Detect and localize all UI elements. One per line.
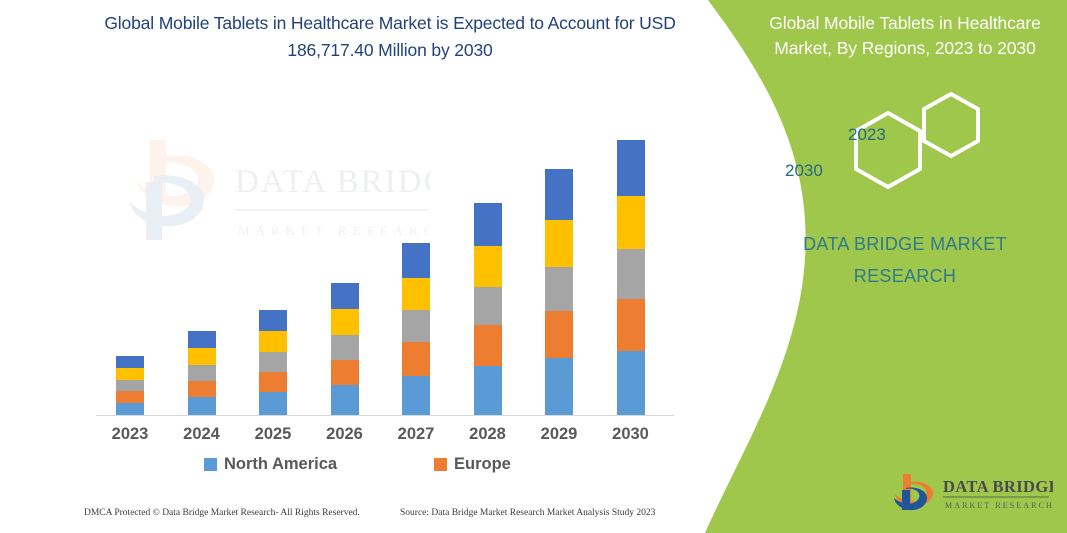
bar-segment [116,368,144,380]
bar-segment [331,309,359,335]
bar-2025[interactable] [259,310,287,416]
bar-segment [188,365,216,381]
bar-2030[interactable] [617,140,645,416]
bar-segment [259,331,287,352]
footer-copyright: DMCA Protected © Data Bridge Market Rese… [84,508,360,518]
bar-segment [545,169,573,219]
bar-segment [116,356,144,368]
bar-segment [617,196,645,249]
x-tick-2023: 2023 [100,425,160,444]
legend-label-europe: Europe [454,455,511,474]
bar-segment [331,360,359,386]
bar-segment [402,278,430,311]
hex-label-2023: 2023 [848,125,886,145]
bar-segment [116,391,144,403]
bar-2029[interactable] [545,169,573,416]
bar-2028[interactable] [474,203,502,416]
legend-swatch-europe [434,458,447,471]
logo-name-bottom: MARKET RESEARCH [945,501,1053,510]
bar-segment [545,220,573,267]
panel-brand-line2: RESEARCH [755,260,1055,292]
bar-segment [188,397,216,416]
hexagon-group [832,92,1022,207]
bar-segment [188,331,216,348]
bar-2027[interactable] [402,243,430,416]
bar-segment [617,351,645,416]
data-bridge-logo: DATA BRIDGE MARKET RESEARCH [893,470,1053,518]
bar-2023[interactable] [116,356,144,416]
bar-segment [545,358,573,416]
plot-area [96,120,674,416]
footer-source: Source: Data Bridge Market Research Mark… [400,508,655,518]
x-tick-2028: 2028 [458,425,518,444]
x-tick-2025: 2025 [243,425,303,444]
logo-mark [894,474,933,510]
legend-label-north-america: North America [224,455,337,474]
panel-brand: DATA BRIDGE MARKET RESEARCH [755,228,1055,292]
bar-segment [402,310,430,342]
x-tick-2029: 2029 [529,425,589,444]
bar-segment [474,287,502,325]
hex-label-2030: 2030 [785,161,823,181]
x-tick-2027: 2027 [386,425,446,444]
bar-segment [402,342,430,376]
footer: DMCA Protected © Data Bridge Market Rese… [0,508,700,528]
x-tick-2024: 2024 [172,425,232,444]
legend-item-europe[interactable]: Europe [434,455,511,474]
bar-segment [188,348,216,365]
bar-segment [331,335,359,360]
bar-segment [116,380,144,392]
bar-2024[interactable] [188,331,216,416]
logo-name-top: DATA BRIDGE [943,477,1053,496]
bar-segment [331,385,359,416]
bar-segment [617,140,645,196]
legend-item-north-america[interactable]: North America [204,455,337,474]
x-axis-labels: 20232024202520262027202820292030 [96,425,674,449]
panel-brand-line1: DATA BRIDGE MARKET [755,228,1055,260]
bar-segment [402,376,430,416]
bar-segment [617,299,645,351]
infographic-canvas: Global Mobile Tablets in Healthcare Mark… [0,0,1067,533]
x-axis-line [96,415,674,416]
bar-segment [617,249,645,298]
chart-legend: North America Europe [96,455,674,479]
bar-2026[interactable] [331,283,359,416]
x-tick-2026: 2026 [315,425,375,444]
bar-segment [259,392,287,416]
x-tick-2030: 2030 [601,425,661,444]
bar-segment [402,243,430,278]
bar-segment [259,372,287,393]
bar-segment [331,283,359,310]
chart-container: DATA BRIDGE MARKET RESEARCH 202320242025… [0,0,700,533]
bar-segment [259,310,287,331]
bar-segment [474,246,502,286]
panel-title: Global Mobile Tablets in Healthcare Mark… [755,11,1055,61]
legend-swatch-north-america [204,458,217,471]
bar-segment [474,366,502,416]
bar-segment [474,325,502,365]
bar-segment [474,203,502,246]
bar-segment [545,267,573,311]
bar-segment [259,352,287,372]
bar-segment [188,381,216,398]
panel-content: Global Mobile Tablets in Healthcare Mark… [737,0,1067,533]
bar-segment [545,311,573,357]
